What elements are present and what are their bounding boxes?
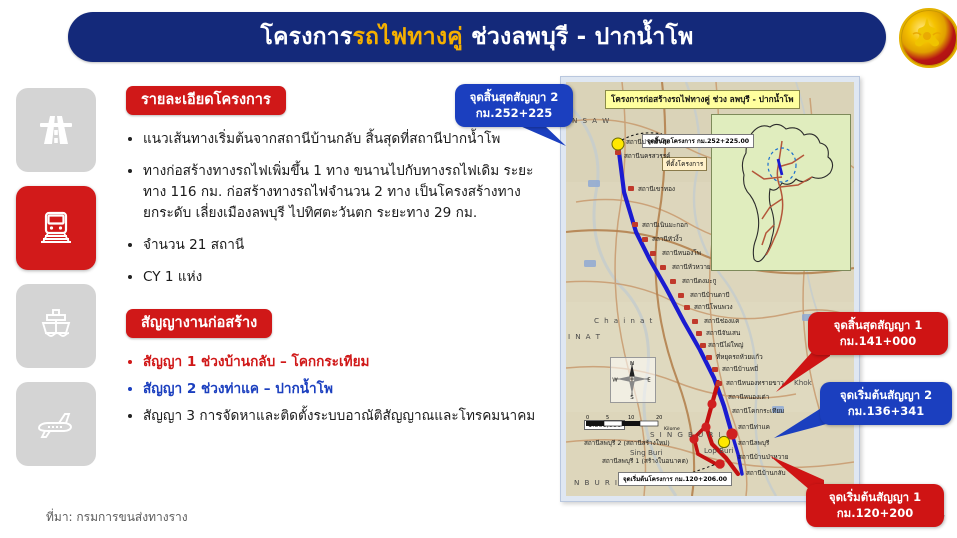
mode-icon-highway[interactable] bbox=[16, 88, 96, 172]
station-label: สถานีเขาทอง bbox=[638, 184, 675, 194]
station-label: สถานีหนองโพ bbox=[662, 248, 701, 258]
transport-mode-rail bbox=[16, 88, 100, 480]
station-label: ที่หยุดรถห้วยแก้ว bbox=[716, 352, 763, 362]
station-label: สถานีจันเสน bbox=[706, 328, 740, 338]
airplane-icon bbox=[32, 400, 80, 448]
callout-line2: กม.136+341 bbox=[830, 404, 942, 420]
svg-text:N: N bbox=[630, 361, 634, 367]
mode-icon-air[interactable] bbox=[16, 382, 96, 466]
page-title: โครงการรถไฟทางคู่ ช่วงลพบุรี - ปากน้ำโพ bbox=[261, 19, 694, 55]
callout-line2: กม.252+225 bbox=[465, 106, 563, 122]
station-label: สถานีลพบุรี bbox=[738, 438, 769, 448]
station-label: สถานีลพบุรี 1 (สร้างในอนาคต) bbox=[602, 456, 688, 466]
project-details-list: แนวเส้นทางเริ่มต้นจากสถานีบ้านกลับ สิ้นส… bbox=[126, 129, 536, 288]
title-accent: รถไฟทางคู่ bbox=[352, 24, 462, 50]
callout-line1: จุดสิ้นสุดสัญญา 1 bbox=[834, 318, 923, 332]
station-label: สถานีปากน้ำโพ bbox=[626, 137, 669, 147]
svg-text:5: 5 bbox=[606, 415, 609, 421]
callout-line2: กม.141+000 bbox=[818, 334, 938, 350]
svg-text:S: S bbox=[630, 395, 634, 400]
place-label: I N A T bbox=[568, 332, 601, 341]
callout-line1: จุดสิ้นสุดสัญญา 2 bbox=[470, 90, 559, 104]
station-label: สถานีช่องแค bbox=[704, 316, 739, 326]
compass-rose-icon: N S E W bbox=[610, 357, 656, 403]
callout-end-contract-1: จุดสิ้นสุดสัญญา 1 กม.141+000 bbox=[808, 312, 948, 355]
badge-construction-contracts: สัญญางานก่อสร้าง bbox=[126, 309, 272, 338]
mode-icon-marine[interactable] bbox=[16, 284, 96, 368]
title-prefix: โครงการ bbox=[261, 24, 353, 50]
station-label: สถานีหัวงิ้ว bbox=[652, 234, 682, 244]
callout-line1: จุดเริ่มต้นสัญญา 2 bbox=[840, 388, 932, 402]
place-label: C h a i n a t bbox=[594, 316, 654, 325]
svg-text:Kilometers: Kilometers bbox=[664, 426, 680, 432]
slide-header: โครงการรถไฟทางคู่ ช่วงลพบุรี - ปากน้ำโพ bbox=[68, 12, 886, 62]
list-item: CY 1 แห่ง bbox=[126, 267, 536, 288]
station-label: สถานีบ้านดาบี bbox=[690, 290, 730, 300]
content-column: รายละเอียดโครงการ แนวเส้นทางเริ่มต้นจากส… bbox=[126, 86, 536, 433]
station-label: สถานีหนองเต่า bbox=[728, 392, 769, 402]
station-label: สถานีไผ่ใหญ่ bbox=[708, 340, 743, 350]
garuda-seal-icon bbox=[899, 8, 957, 68]
station-label: สถานีลพบุรี 2 (สถานีสร้างใหม่) bbox=[584, 438, 670, 448]
highway-icon bbox=[32, 106, 80, 154]
callout-line2: กม.120+200 bbox=[816, 506, 934, 522]
map-title: โครงการก่อสร้างรถไฟทางคู่ ช่วง ลพบุรี - … bbox=[605, 90, 800, 109]
svg-text:W: W bbox=[612, 378, 618, 384]
station-label: สถานีโพนพวง bbox=[694, 302, 733, 312]
place-label: Lop Buri bbox=[704, 446, 734, 455]
train-icon bbox=[32, 204, 80, 252]
callout-start-contract-2: จุดเริ่มต้นสัญญา 2 กม.136+341 bbox=[820, 382, 952, 425]
list-item: สัญญา 2 ช่วงท่าแค – ปากน้ำโพ bbox=[126, 379, 536, 400]
place-label: N B U R I bbox=[574, 478, 618, 487]
map-note-project-start: จุดเริ่มต้นโครงการ กม.120+206.00 bbox=[618, 472, 732, 486]
title-suffix: ช่วงลพบุรี - ปากน้ำโพ bbox=[463, 24, 694, 50]
svg-text:10: 10 bbox=[628, 415, 634, 421]
construction-contracts-section: สัญญางานก่อสร้าง สัญญา 1 ช่วงบ้านกลับ – … bbox=[126, 309, 536, 427]
svg-text:E: E bbox=[647, 378, 651, 384]
callout-end-contract-2: จุดสิ้นสุดสัญญา 2 กม.252+225 bbox=[455, 84, 573, 127]
callout-line1: จุดเริ่มต้นสัญญา 1 bbox=[829, 490, 921, 504]
station-label: สถานีเนินมะกอก bbox=[642, 220, 688, 230]
station-label: สถานีนครสวรรค์ bbox=[624, 151, 670, 161]
contracts-list: สัญญา 1 ช่วงบ้านกลับ – โคกกระเทียม สัญญา… bbox=[126, 352, 536, 427]
map-scalebar: 0 5 10 20 Kilometers 1:500,000 bbox=[584, 412, 625, 431]
callout-start-contract-1: จุดเริ่มต้นสัญญา 1 กม.120+200 bbox=[806, 484, 944, 527]
list-item: สัญญา 3 การจัดหาและติดตั้งระบบอาณัติสัญญ… bbox=[126, 406, 536, 427]
svg-text:20: 20 bbox=[656, 415, 662, 421]
list-item: จำนวน 21 สถานี bbox=[126, 235, 536, 256]
list-item: ทางก่อสร้างทางรถไฟเพิ่มขึ้น 1 ทาง ขนานไป… bbox=[126, 161, 536, 224]
station-label: สถานีท่าแค bbox=[738, 422, 770, 432]
list-item: แนวเส้นทางเริ่มต้นจากสถานีบ้านกลับ สิ้นส… bbox=[126, 129, 536, 150]
mode-icon-rail[interactable] bbox=[16, 186, 96, 270]
station-label: สถานีห้วหวาย bbox=[672, 262, 711, 272]
station-label: สถานีบ้านหมี่ bbox=[722, 364, 758, 374]
slide-root: โครงการรถไฟทางคู่ ช่วงลพบุรี - ปากน้ำโพ bbox=[0, 0, 957, 538]
badge-project-details: รายละเอียดโครงการ bbox=[126, 86, 286, 115]
list-item: สัญญา 1 ช่วงบ้านกลับ – โคกกระเทียม bbox=[126, 352, 536, 373]
station-label: สถานีดงมะกู bbox=[682, 276, 717, 286]
source-note: ที่มา: กรมการขนส่งทางราง bbox=[46, 508, 188, 527]
ship-icon bbox=[32, 302, 80, 350]
svg-text:0: 0 bbox=[586, 415, 589, 421]
